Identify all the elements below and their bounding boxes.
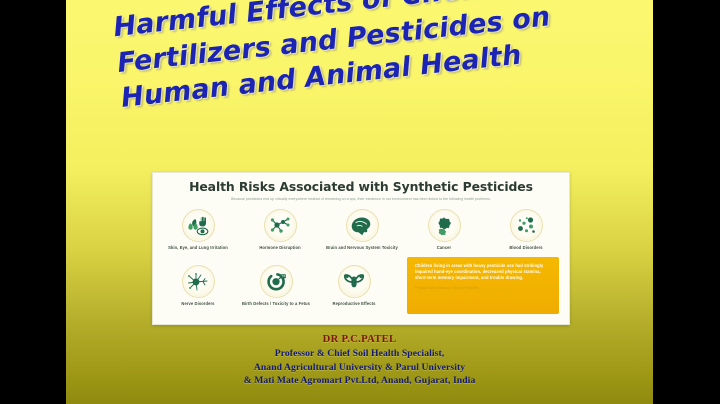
risk-row-1: Skin, Eye, and Lung Irritation: [161, 209, 563, 251]
fetus-icon: [260, 265, 293, 298]
infographic-subheading: Because pesticides end up virtually ever…: [187, 197, 535, 202]
risk-label: Blood Disorders: [490, 245, 562, 251]
risk-row-2: Nerve Disorders Birth Defects / Toxicity…: [161, 265, 391, 307]
brain-icon: [346, 209, 379, 242]
risk-item-birth-defects: Birth Defects / Toxicity to a Fetus: [239, 265, 313, 307]
risk-item-nerve: Nerve Disorders: [161, 265, 235, 307]
risk-item-brain: Brain and Nervous System Toxicity: [325, 209, 399, 251]
presenter-name: DR P.C.PATEL: [66, 332, 653, 347]
risk-item-reproductive: Reproductive Effects: [317, 265, 391, 307]
risk-label: Birth Defects / Toxicity to a Fetus: [240, 301, 312, 307]
hormone-molecule-icon: [264, 209, 297, 242]
infographic-heading: Health Risks Associated with Synthetic P…: [161, 180, 561, 194]
presentation-slide: Harmful Effects of Chemical Fertilizers …: [66, 0, 653, 404]
risk-label: Reproductive Effects: [318, 301, 390, 307]
nerve-cell-icon: [182, 265, 215, 298]
risk-item-cancer: Cancer: [407, 209, 481, 251]
lungs-eye-hand-icon: [182, 209, 215, 242]
risk-label: Hormone Disruption: [244, 245, 316, 251]
slide-title: Harmful Effects of Chemical Fertilizers …: [66, 0, 653, 122]
risk-item-blood: Blood Disorders: [489, 209, 563, 251]
callout-box: Children living in areas with heavy pest…: [407, 257, 559, 314]
presenter-affiliation-1: Anand Agricultural University & Parul Un…: [66, 361, 653, 375]
callout-source: Pesticide Action Network / Beyond Pestic…: [415, 286, 551, 290]
video-frame: Harmful Effects of Chemical Fertilizers …: [0, 0, 720, 404]
risk-label: Brain and Nervous System Toxicity: [326, 245, 398, 251]
risk-item-skin-eye-lung: Skin, Eye, and Lung Irritation: [161, 209, 235, 251]
presenter-affiliation-2: & Mati Mate Agromart Pvt.Ltd, Anand, Guj…: [66, 374, 653, 388]
risk-label: Cancer: [408, 245, 480, 251]
letterbox-right: [653, 0, 720, 404]
callout-text: Children living in areas with heavy pest…: [415, 263, 551, 281]
presenter-title: Professor & Chief Soil Health Specialist…: [66, 347, 653, 361]
letterbox-left: [0, 0, 66, 404]
risk-label: Skin, Eye, and Lung Irritation: [162, 245, 234, 251]
risk-item-hormone: Hormone Disruption: [243, 209, 317, 251]
credits-block: DR P.C.PATEL Professor & Chief Soil Heal…: [66, 332, 653, 388]
cancer-cells-icon: [428, 209, 461, 242]
infographic-panel: Health Risks Associated with Synthetic P…: [152, 172, 570, 325]
reproductive-organs-icon: [338, 265, 371, 298]
risk-label: Nerve Disorders: [162, 301, 234, 307]
blood-cells-icon: [510, 209, 543, 242]
